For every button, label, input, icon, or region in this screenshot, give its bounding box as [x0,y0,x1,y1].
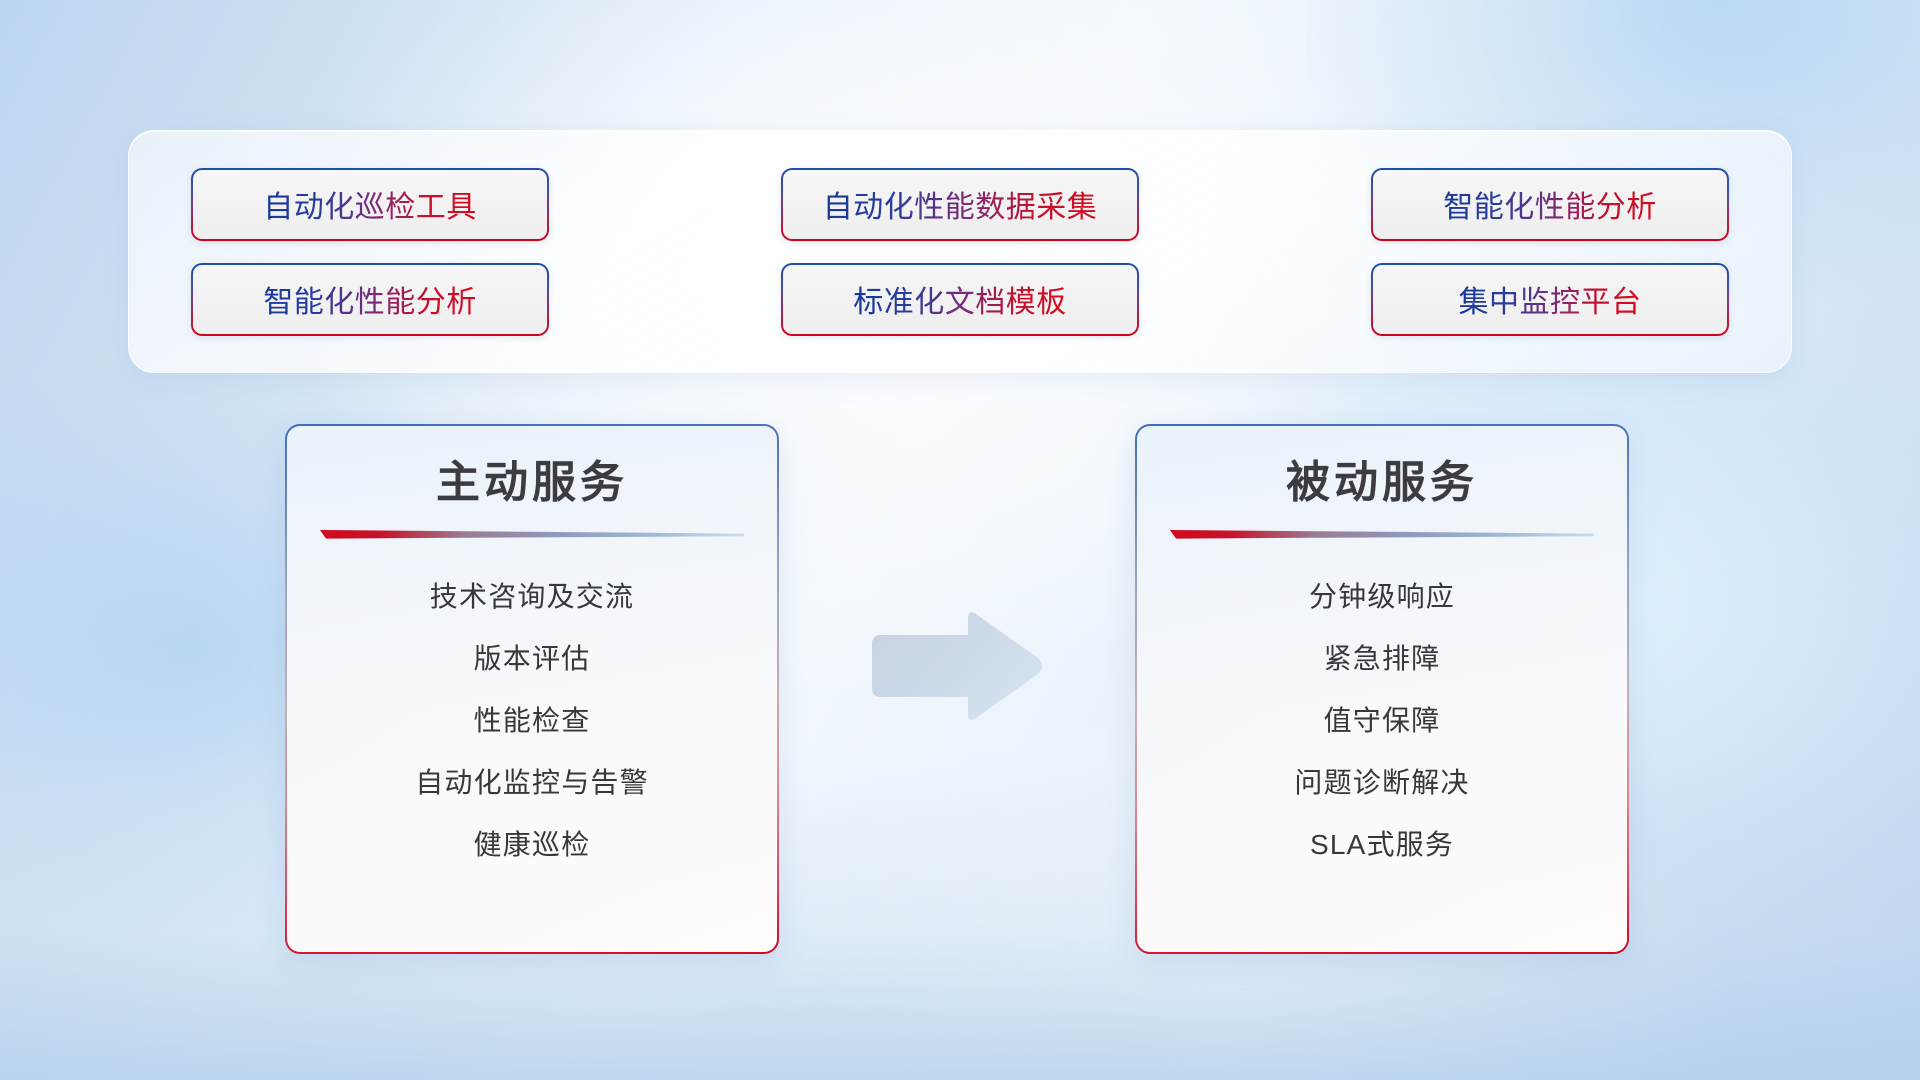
capability-pill-standardized-document-template[interactable]: 标准化文档模板 [781,263,1139,336]
service-card-active[interactable]: 主动服务 [285,424,779,954]
capability-pill-centralized-monitoring-platform[interactable]: 集中监控平台 [1371,263,1729,336]
service-card-passive[interactable]: 被动服务 [1135,424,1629,954]
card-divider-active [320,528,744,540]
capabilities-panel: 自动化巡检工具 自动化性能数据采集 智能化性能分析 智能化性能分析 [128,130,1792,373]
capability-pill-label: 智能化性能分析 [263,277,477,321]
pill-surface: 集中监控平台 [1373,265,1727,334]
pill-surface: 自动化性能数据采集 [783,170,1137,239]
card-divider-passive [1170,528,1594,540]
pill-surface: 标准化文档模板 [783,265,1137,334]
list-item: 分钟级响应 [1309,566,1455,628]
list-item: 值守保障 [1324,690,1441,752]
list-item: 紧急排障 [1324,628,1441,690]
list-item: SLA式服务 [1310,814,1454,876]
list-item: 自动化监控与告警 [415,752,649,814]
capability-pill-automated-performance-data-collection[interactable]: 自动化性能数据采集 [781,168,1139,241]
capability-pill-label: 标准化文档模板 [853,277,1067,321]
pill-surface: 自动化巡检工具 [193,170,547,239]
card-surface: 被动服务 [1137,426,1627,952]
card-title-active: 主动服务 [436,456,628,511]
capability-pill-label: 集中监控平台 [1459,277,1642,321]
pill-surface: 智能化性能分析 [1373,170,1727,239]
capability-pill-automated-inspection-tool[interactable]: 自动化巡检工具 [191,168,549,241]
capability-pill-label: 自动化巡检工具 [263,182,477,226]
list-item: 性能检查 [474,690,591,752]
capabilities-row-2: 智能化性能分析 标准化文档模板 集中监控平台 [191,263,1729,336]
flow-arrow-right-icon [866,608,1046,724]
list-item: 问题诊断解决 [1294,752,1469,814]
capability-pill-intelligent-performance-analysis-a[interactable]: 智能化性能分析 [1371,168,1729,241]
capabilities-row-1: 自动化巡检工具 自动化性能数据采集 智能化性能分析 [191,168,1729,241]
card-title-passive: 被动服务 [1286,456,1478,511]
card-surface: 主动服务 [287,426,777,952]
capability-pill-label: 自动化性能数据采集 [823,182,1098,226]
capability-pill-intelligent-performance-analysis-b[interactable]: 智能化性能分析 [191,263,549,336]
card-list-passive: 分钟级响应 紧急排障 值守保障 问题诊断解决 SLA式服务 [1155,566,1609,876]
list-item: 版本评估 [474,628,591,690]
card-list-active: 技术咨询及交流 版本评估 性能检查 自动化监控与告警 健康巡检 [305,566,759,876]
capability-pill-label: 智能化性能分析 [1443,182,1657,226]
pill-surface: 智能化性能分析 [193,265,547,334]
diagram-stage: 自动化巡检工具 自动化性能数据采集 智能化性能分析 智能化性能分析 [0,0,1920,1080]
list-item: 技术咨询及交流 [430,566,634,628]
list-item: 健康巡检 [474,814,591,876]
